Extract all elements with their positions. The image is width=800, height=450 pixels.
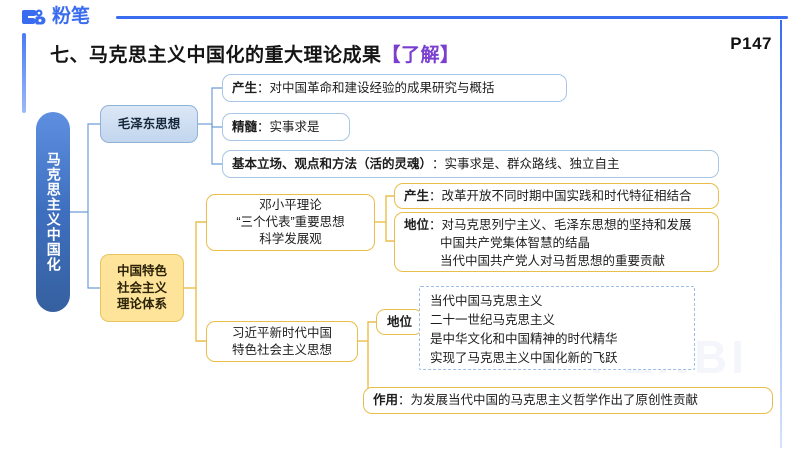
xi-status-line-4: 实现了马克思主义中国化新的飞跃 <box>430 349 684 368</box>
mindmap-root-node[interactable]: 马克思主义中国化 <box>36 112 70 312</box>
right-edge-accent <box>780 20 782 448</box>
node-xi-role-text: ：为发展当代中国的马克思主义哲学作出了原创性贡献 <box>398 392 698 409</box>
node-deng-theory-group[interactable]: 邓小平理论 “三个代表”重要思想 科学发展观 <box>206 194 375 251</box>
slide-page: FENBI 粉笔 七、马克思主义中国化的重大理论成果【了解】 P147 <box>0 0 800 450</box>
node-mao-essence-text: ：实事求是 <box>257 119 320 136</box>
node-socialism-theory-system[interactable]: 中国特色 社会主义 理论体系 <box>100 254 184 322</box>
node-deng-status-text: ：对马克思列宁主义、毛泽东思想的坚持和发展 <box>429 218 692 232</box>
brand-logo: 粉笔 <box>22 6 90 28</box>
node-deng-status-line3: 当代中国共产党人对马哲思想的重要贡献 <box>404 253 709 271</box>
page-title-tag: 【了解】 <box>382 45 460 66</box>
page-title: 七、马克思主义中国化的重大理论成果【了解】 <box>50 40 460 67</box>
node-xi-status-label[interactable]: 地位 <box>376 309 423 335</box>
xi-status-line-2: 二十一世纪马克思主义 <box>430 311 684 330</box>
node-mao-origin-label: 产生 <box>232 80 257 97</box>
xi-status-line-1: 当代中国马克思主义 <box>430 292 684 311</box>
page-number: P147 <box>730 34 772 54</box>
brand-name: 粉笔 <box>52 6 90 28</box>
node-mao-zedong-thought[interactable]: 毛泽东思想 <box>100 105 198 143</box>
fenbi-logo-icon <box>22 6 48 28</box>
node-xi-status-content[interactable]: 当代中国马克思主义 二十一世纪马克思主义 是中华文化和中国精神的时代精华 实现了… <box>419 286 695 370</box>
node-mao-essence[interactable]: 精髓：实事求是 <box>222 113 350 141</box>
node-deng-status[interactable]: 地位：对马克思列宁主义、毛泽东思想的坚持和发展 中国共产党集体智慧的结晶 当代中… <box>394 212 719 272</box>
header-rule <box>116 16 788 19</box>
node-mao-origin-text: ：对中国革命和建设经验的成果研究与概括 <box>257 80 495 97</box>
node-deng-status-label: 地位 <box>404 218 429 232</box>
page-title-main: 七、马克思主义中国化的重大理论成果 <box>50 45 382 66</box>
node-deng-origin-text: ：改革开放不同时期中国实践和时代特征相结合 <box>429 188 692 205</box>
node-mao-standpoint-text: ：实事求是、群众路线、独立自主 <box>432 156 620 173</box>
node-xi-thought[interactable]: 习近平新时代中国 特色社会主义思想 <box>206 321 358 362</box>
node-xi-role-label: 作用 <box>373 392 398 409</box>
xi-status-line-3: 是中华文化和中国精神的时代精华 <box>430 330 684 349</box>
node-deng-status-line2: 中国共产党集体智慧的结晶 <box>404 235 709 253</box>
node-mao-essence-label: 精髓 <box>232 119 257 136</box>
node-xi-role[interactable]: 作用：为发展当代中国的马克思主义哲学作出了原创性贡献 <box>363 387 773 414</box>
node-mao-origin[interactable]: 产生：对中国革命和建设经验的成果研究与概括 <box>222 74 567 102</box>
left-title-accent <box>22 33 26 113</box>
node-deng-origin[interactable]: 产生：改革开放不同时期中国实践和时代特征相结合 <box>394 183 719 209</box>
node-mao-standpoint[interactable]: 基本立场、观点和方法（活的灵魂）：实事求是、群众路线、独立自主 <box>222 150 719 178</box>
node-mao-standpoint-label: 基本立场、观点和方法（活的灵魂） <box>232 156 432 173</box>
node-deng-origin-label: 产生 <box>404 188 429 205</box>
